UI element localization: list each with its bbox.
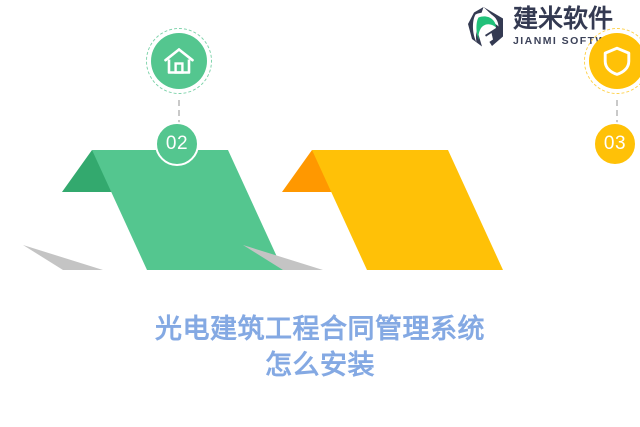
ribbon-shadow-amber [243,245,323,270]
poster-caption: 光电建筑工程合同管理系统 怎么安装 [0,312,640,383]
icon-bubble-03[interactable] [589,33,640,89]
ribbon-shadow-green [23,245,103,270]
caption-line-1: 光电建筑工程合同管理系统 [0,312,640,348]
jianmi-hexagon-leaf-logo-icon [462,6,506,48]
home-icon [162,44,196,78]
icon-bubble-02[interactable] [151,33,207,89]
caption-line-2: 怎么安装 [0,348,640,384]
step-number-badge-03: 03 [593,122,637,166]
shield-icon [600,44,634,78]
poster-canvas: 建米软件 JIANMI SOFTWARE 02 [0,0,640,427]
step-number-badge-02: 02 [155,122,199,166]
ribbon-body-amber [312,150,503,270]
ribbon-banner-amber [220,140,520,290]
